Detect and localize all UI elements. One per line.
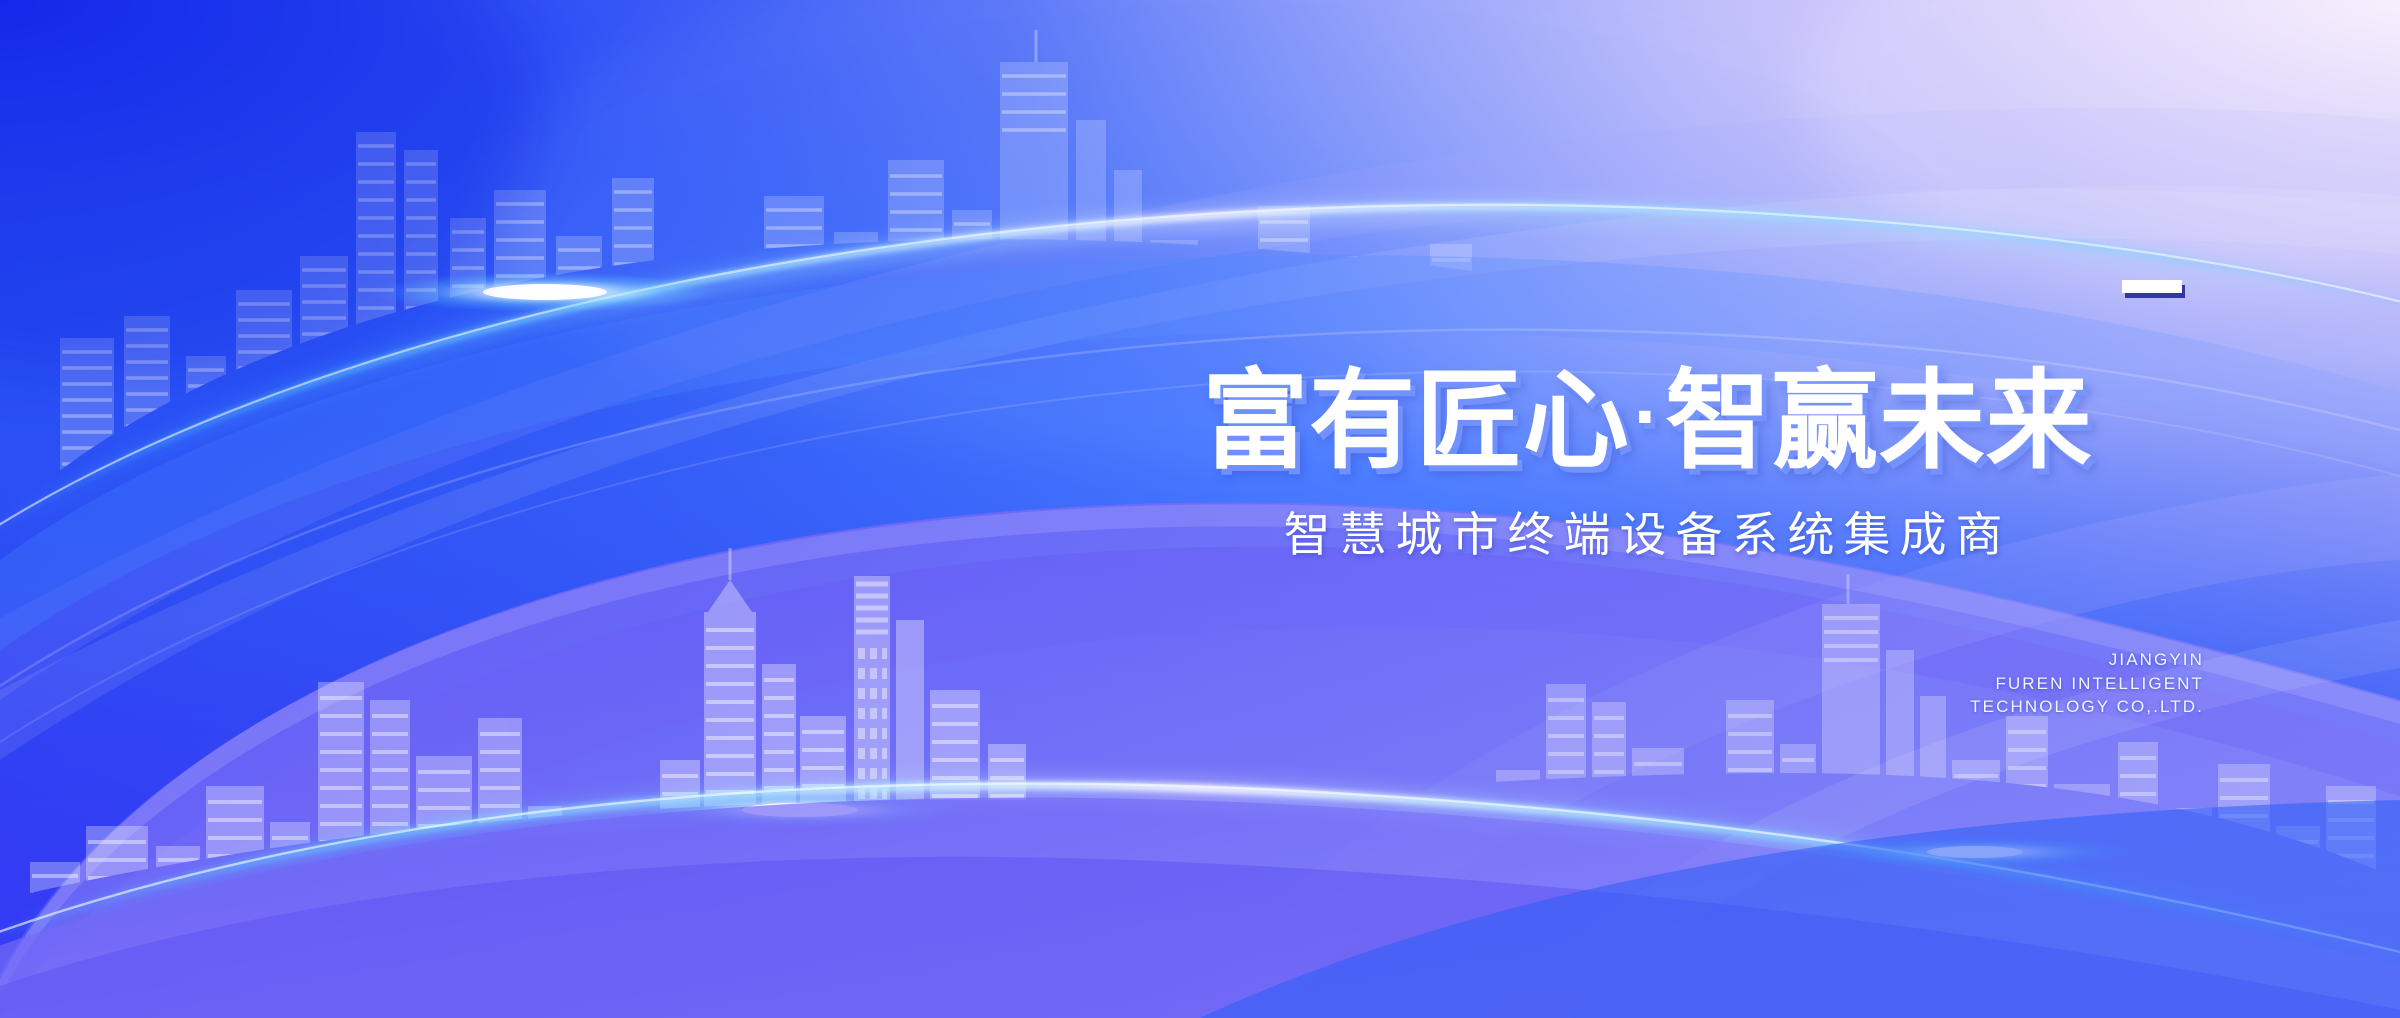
background-artwork [0, 0, 2400, 1018]
promotional-banner: 富有匠心·智赢未来 智慧城市终端设备系统集成商 JIANGYIN FUREN I… [0, 0, 2400, 1018]
